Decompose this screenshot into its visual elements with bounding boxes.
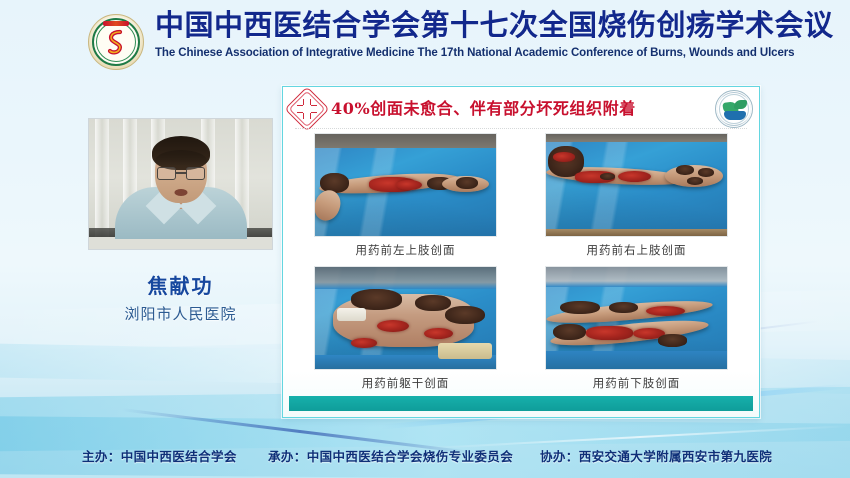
conference-title-block: 中国中西医结合学会第十七次全国烧伤创疡学术会议 The Chinese Asso… [155,8,795,59]
wound-photo-trunk[interactable] [314,266,497,370]
slide-body: 用药前左上肢创面 [283,131,759,395]
conference-header: 中国中西医结合学会第十七次全国烧伤创疡学术会议 The Chinese Asso… [0,0,850,80]
presentation-stage: 中国中西医结合学会第十七次全国烧伤创疡学术会议 The Chinese Asso… [0,0,850,478]
footer-organizer: 主办：中国中西医结合学会 [82,446,237,465]
speaker-panel: 焦献功 浏阳市人民医院 [88,118,273,324]
glasses-icon [157,167,205,180]
hospital-logo-icon [715,90,753,128]
slide-header-divider [295,128,747,129]
speaker-organization: 浏阳市人民医院 [88,303,273,324]
slide-header: 40%创面未愈合、伴有部分坏死组织附着 [283,87,759,131]
footer-co-organizer: 协办：西安交通大学附属西安市第九医院 [540,446,772,465]
slide-panel: 40%创面未愈合、伴有部分坏死组织附着 [282,86,760,418]
wound-photo-lower-limb[interactable] [545,266,728,370]
slide-accent-bar [289,396,753,411]
wound-photo-grid: 用药前左上肢创面 [297,133,745,395]
logo-emblem-icon [105,29,127,55]
speaker-webcam-video[interactable] [88,118,273,250]
photo-caption: 用药前下肢创面 [593,375,681,391]
wound-photo-left-upper-limb[interactable] [314,133,497,237]
speaker-name: 焦献功 [88,270,273,299]
photo-caption: 用药前躯干创面 [362,375,450,391]
photo-caption: 用药前右上肢创面 [587,242,687,258]
conference-footer: 主办：中国中西医结合学会 承办：中国中西医结合学会烧伤专业委员会 协办：西安交通… [0,432,850,478]
conference-logo-icon [88,14,144,70]
photo-caption: 用药前左上肢创面 [356,242,456,258]
photo-cell: 用药前躯干创面 [297,266,514,395]
slide-title: 40%创面未愈合、伴有部分坏死组织附着 [331,95,636,119]
wound-photo-right-upper-limb[interactable] [545,133,728,237]
conference-title-cn: 中国中西医结合学会第十七次全国烧伤创疡学术会议 [155,8,795,42]
red-cross-icon [291,93,323,125]
conference-title-en: The Chinese Association of Integrative M… [155,47,795,59]
photo-cell: 用药前下肢创面 [528,266,745,395]
photo-cell: 用药前右上肢创面 [528,133,745,262]
photo-cell: 用药前左上肢创面 [297,133,514,262]
footer-undertaker: 承办：中国中西医结合学会烧伤专业委员会 [268,446,513,465]
